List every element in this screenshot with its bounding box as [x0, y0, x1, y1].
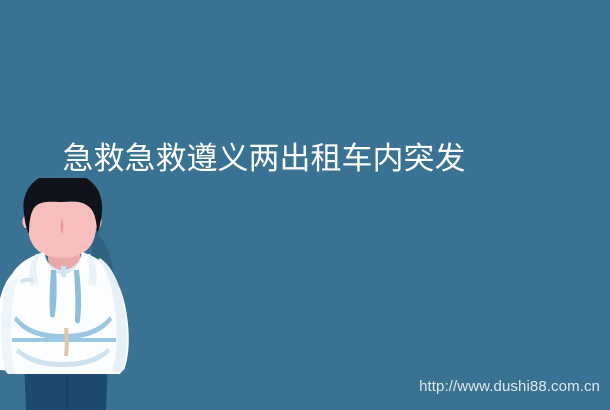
headline-text: 急救急救遵义两出租车内突发: [0, 139, 610, 179]
image-canvas: 急救急救遵义两出租车内突发 http://www.dushi88.com.cn: [0, 0, 610, 410]
watermark-url: http://www.dushi88.com.cn: [419, 378, 600, 396]
illustration-young-man-in-white-hoodie: [0, 178, 135, 410]
collar-notch: [61, 266, 66, 277]
